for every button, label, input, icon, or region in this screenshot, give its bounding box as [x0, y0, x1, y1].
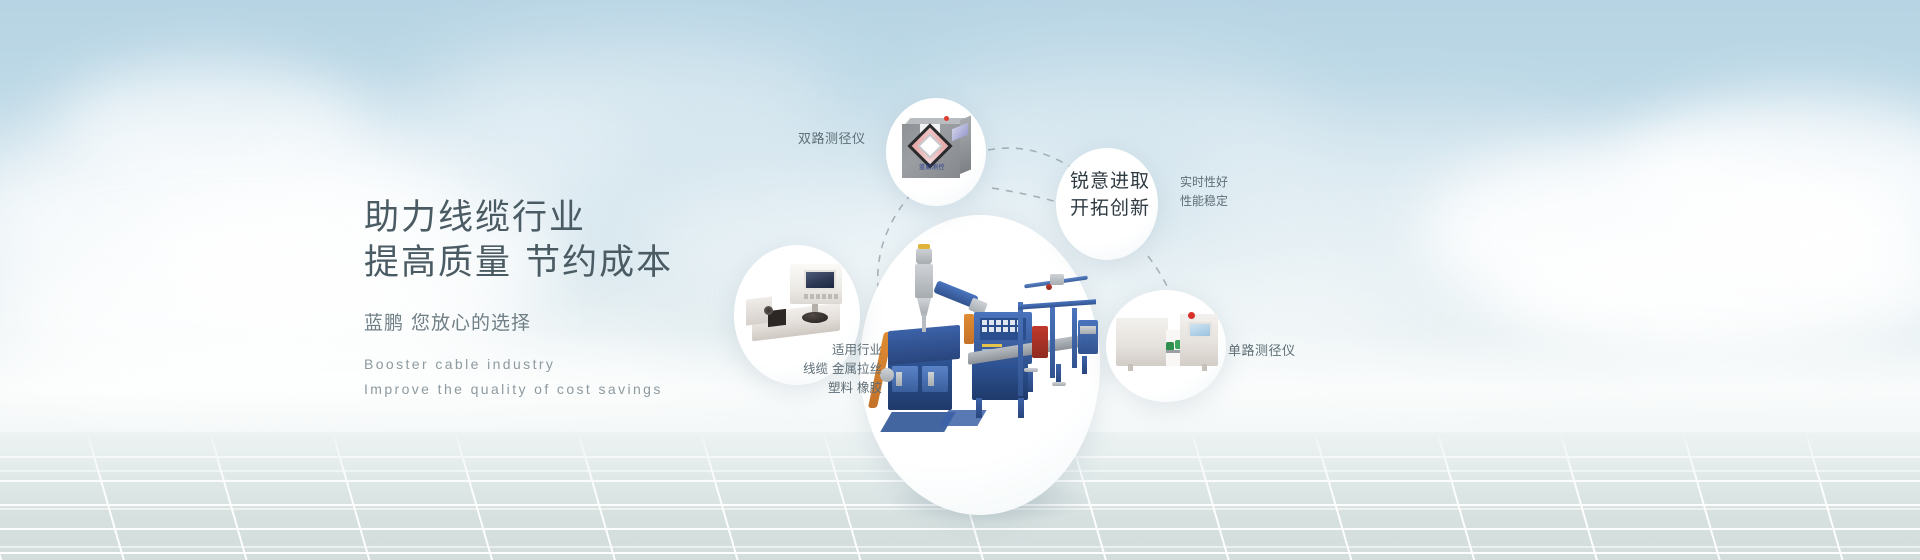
machine-gantry-post-3	[1072, 308, 1077, 368]
cable-extrusion-line-illustration	[872, 240, 1100, 470]
product-bubble-cluster: 蓝鹏测控 锐意进取 开拓创新	[720, 0, 1920, 560]
machine-gantry-post-2	[1050, 306, 1055, 378]
machine-side-column	[964, 314, 974, 344]
machine-winder-drum	[1080, 326, 1096, 334]
label-dual-gauge: 双路测径仪	[798, 128, 866, 147]
page-title-line-1: 助力线缆行业	[364, 196, 673, 241]
machine-hopper-head	[916, 248, 932, 264]
machine-gantry-light	[1046, 284, 1052, 290]
label-performance: 实时性好 性能稳定	[1180, 173, 1228, 211]
single-gauge-foot-left	[1128, 364, 1133, 371]
machine-hopper-neck	[922, 314, 926, 332]
subtitle-chinese: 蓝鹏 您放心的选择	[364, 310, 673, 336]
machine-hopper-cap	[918, 244, 930, 249]
single-gauge-device-illustration	[1116, 304, 1220, 386]
console-keypad	[804, 294, 838, 299]
machine-gantry-post-1	[1018, 302, 1023, 396]
machine-leg-a	[976, 398, 982, 418]
label-industry: 适用行业 线缆 金属拉丝 塑料 橡胶	[722, 340, 882, 397]
machine-indicator-yellow	[982, 344, 1002, 347]
single-gauge-left-housing	[1116, 318, 1168, 366]
slogan-text: 锐意进取 开拓创新	[1064, 168, 1156, 222]
machine-hopper-column	[915, 264, 933, 298]
machine-stand-1	[1028, 370, 1033, 392]
subtitle-english-line-1: Booster cable industry	[364, 352, 673, 377]
label-industry-line-2: 塑料 橡胶	[722, 378, 882, 397]
machine-base-2	[1052, 382, 1066, 386]
machine-takeup-reel	[1032, 326, 1048, 358]
machine-stand-3	[1082, 356, 1087, 374]
console-lens-icon	[764, 306, 773, 315]
machine-shaft-a	[896, 372, 902, 386]
measuring-console-illustration	[746, 258, 850, 352]
machine-roller	[880, 368, 894, 382]
hero-banner: 助力线缆行业 提高质量 节约成本 蓝鹏 您放心的选择 Booster cable…	[0, 0, 1920, 560]
console-foot	[802, 312, 828, 323]
label-industry-line-1: 线缆 金属拉丝	[722, 359, 882, 378]
machine-panel-b	[922, 366, 948, 392]
slogan-line-1: 锐意进取	[1064, 168, 1156, 195]
dual-gauge-device-illustration: 蓝鹏测控	[896, 110, 978, 194]
machine-shaft-b	[928, 372, 934, 386]
single-gauge-screen	[1188, 322, 1212, 338]
machine-gantry-motor	[1050, 274, 1064, 285]
label-performance-line-2: 性能稳定	[1180, 192, 1228, 211]
label-industry-title: 适用行业	[722, 340, 882, 359]
machine-gantry-beam	[1018, 299, 1096, 309]
machine-leg-b	[1018, 398, 1024, 418]
machine-stand-2	[1056, 364, 1061, 384]
device-brand-label: 蓝鹏测控	[904, 162, 960, 171]
single-gauge-foot-right	[1202, 364, 1207, 371]
subtitle-english-line-2: Improve the quality of cost savings	[364, 377, 673, 402]
slogan-line-2: 开拓创新	[1064, 195, 1156, 222]
console-screen	[804, 270, 836, 290]
power-led-icon	[944, 116, 949, 121]
emergency-stop-icon	[1188, 312, 1195, 319]
page-title-line-2: 提高质量 节约成本	[364, 241, 673, 286]
label-performance-line-1: 实时性好	[1180, 173, 1228, 192]
hero-copy: 助力线缆行业 提高质量 节约成本 蓝鹏 您放心的选择 Booster cable…	[364, 196, 673, 402]
label-single-gauge: 单路测径仪	[1228, 340, 1296, 359]
machine-base-1	[1024, 368, 1038, 372]
